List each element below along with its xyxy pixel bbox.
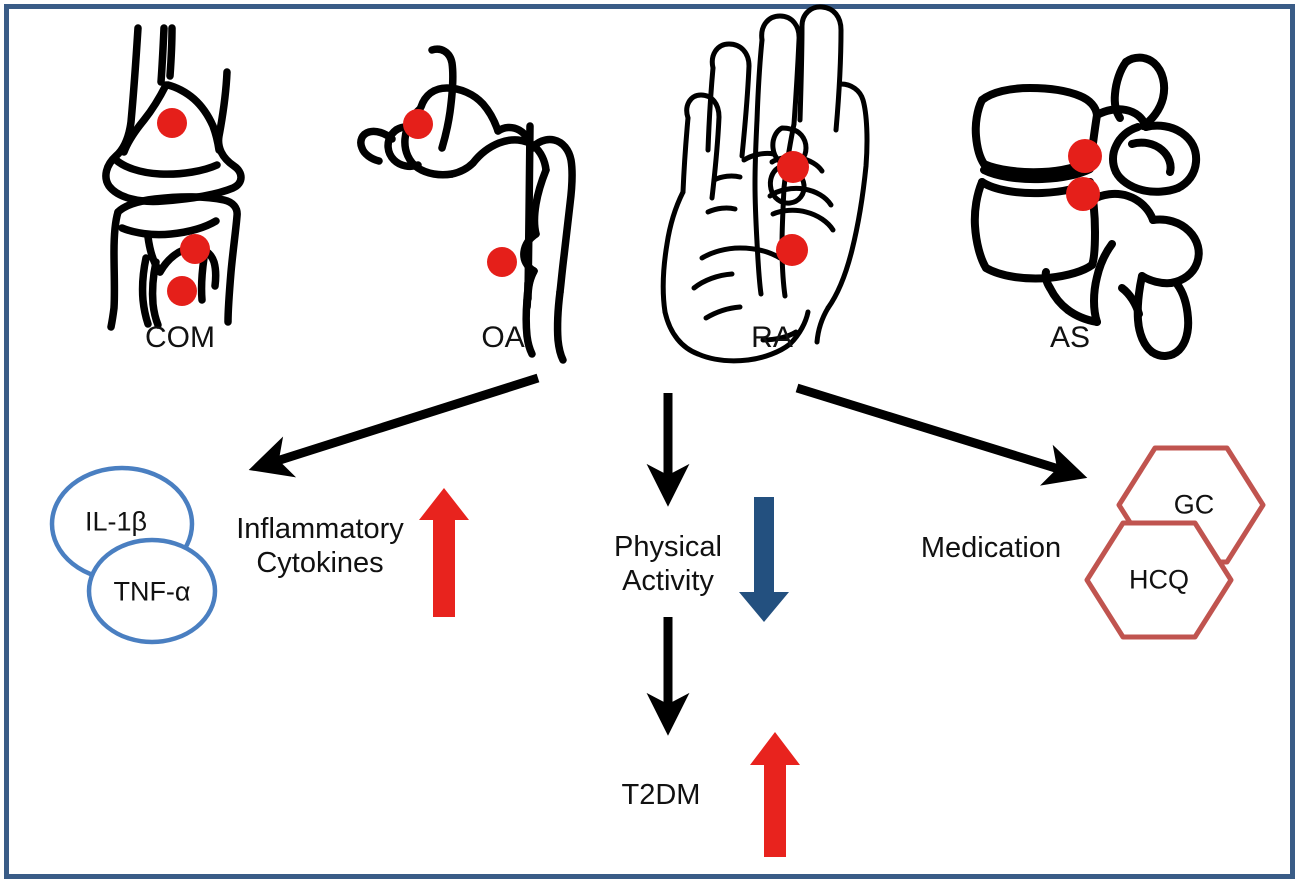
figure-root: COM OA RA AS Inflammatory Cytokines Phys… [0,0,1299,883]
cytokines-up-arrow-icon [419,488,469,617]
diagram-canvas [0,0,1299,883]
medication-label: Medication [921,531,1061,565]
tnfa-circle [89,540,215,642]
marker-dot [180,234,210,264]
physical-activity-label: Physical Activity [614,530,722,598]
joint-label-com: COM [145,320,215,355]
joint-label-oa: OA [481,320,524,355]
cytokine-molecules [52,468,215,642]
joint-label-as: AS [1050,320,1090,355]
marker-dot [1066,177,1100,211]
arrow-to-cytokines [258,378,538,467]
hand-joint-icon [663,7,867,361]
physical-activity-down-arrow-icon [739,497,789,622]
hip-joint-icon [361,49,572,360]
marker-dot [157,108,187,138]
marker-dot [403,109,433,139]
marker-dot [1068,139,1102,173]
t2dm-up-arrow-icon [750,732,800,857]
marker-dot [487,247,517,277]
inflammatory-cytokines-label: Inflammatory Cytokines [236,512,404,580]
marker-dot [167,276,197,306]
marker-dot [776,234,808,266]
medication-molecules [1087,448,1263,637]
marker-dot [777,151,809,183]
joint-label-ra: RA [751,320,793,355]
arrow-to-medication [797,388,1078,475]
t2dm-label: T2DM [622,778,701,812]
